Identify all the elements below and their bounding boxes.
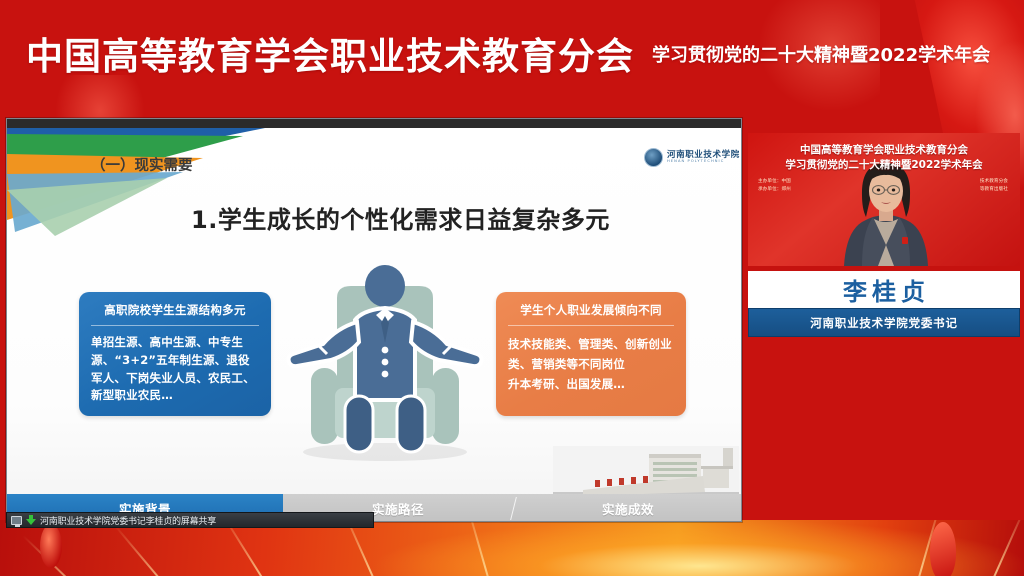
video-organizer-line-4: 等教育出版社 [980,186,1008,192]
video-overlay-title-line-2: 学习贯彻党的二十大精神暨2022学术年会 [748,157,1020,172]
presentation-slide: （一）现实需要 1.学生成长的个性化需求日益复杂多元 河南职业技术学院 HENA… [7,128,742,522]
shared-screen-window[interactable]: （一）现实需要 1.学生成长的个性化需求日益复杂多元 河南职业技术学院 HENA… [6,118,742,522]
speaker-name: 李桂贞 [838,272,930,307]
seal-icon [644,148,663,167]
banner-main-title: 中国高等教育学会职业技术教育分会 [26,26,634,80]
slide-headline: 1.学生成长的个性化需求日益复杂多元 [191,200,610,235]
slide-tab-label: 实施成效 [602,499,654,518]
speaker-video-avatar [840,157,932,266]
speaker-name-plate: 李桂贞 [748,266,1020,308]
screen-share-meeting-view: 中国高等教育学会职业技术教育分会 学习贯彻党的二十大精神暨2022学术年会 （一… [0,0,1024,576]
person-in-armchair-illustration [275,256,495,474]
banner-subtitle: 学习贯彻党的二十大精神暨2022学术年会 [652,41,990,67]
video-organizer-line-2: 承办单位：郑州 [758,186,791,192]
callout-career-orientation: 学生个人职业发展倾向不同 技术技能类、管理类、创新创业类、营销类等不同岗位 升本… [496,292,686,416]
video-organizer-line-1: 主办单位：中国 [758,178,791,184]
callout-body-line-2: 升本考研、出国发展… [508,374,674,394]
callout-student-sources: 高职院校学生生源结构多元 单招生源、高中生源、中专生源、“3+2”五年制生源、退… [79,292,271,416]
decorative-pod [40,524,62,568]
speaker-panel: 中国高等教育学会职业技术教育分会 学习贯彻党的二十大精神暨2022学术年会 主办… [748,133,1020,345]
slide-tab-results[interactable]: 实施成效 [513,494,742,522]
slide-section-kicker: （一）现实需要 [91,154,193,175]
speaker-video-tile[interactable]: 中国高等教育学会职业技术教育分会 学习贯彻党的二十大精神暨2022学术年会 主办… [748,133,1020,266]
callout-body-line-1: 技术技能类、管理类、创新创业类、营销类等不同岗位 [508,334,674,374]
share-status-label: 河南职业技术学院党委书记李桂贞的屏幕共享 [40,514,216,527]
decorative-pod [930,522,956,576]
screen-share-status-bar[interactable]: 河南职业技术学院党委书记李桂贞的屏幕共享 [6,512,374,528]
slide-tab-label: 实施路径 [372,499,424,518]
decorative-bottom-glow [0,520,1024,576]
download-arrow-icon [26,515,36,526]
event-banner: 中国高等教育学会职业技术教育分会 学习贯彻党的二十大精神暨2022学术年会 [0,0,1024,112]
institute-logo: 河南职业技术学院 HENAN POLYTECHNIC [644,148,740,167]
shared-window-titlebar [7,119,741,128]
callout-title: 高职院校学生生源结构多元 [91,302,259,326]
speaker-role: 河南职业技术学院党委书记 [810,315,958,331]
callout-body: 单招生源、高中生源、中专生源、“3+2”五年制生源、退役军人、下岗失业人员、农民… [91,334,259,405]
monitor-icon [11,516,22,525]
callout-title: 学生个人职业发展倾向不同 [508,302,674,326]
speaker-role-plate: 河南职业技术学院党委书记 [748,308,1020,337]
video-overlay-title-line-1: 中国高等教育学会职业技术教育分会 [748,142,1020,157]
video-organizer-line-3: 技术教育分会 [980,178,1008,184]
institute-name-en: HENAN POLYTECHNIC [667,160,740,164]
